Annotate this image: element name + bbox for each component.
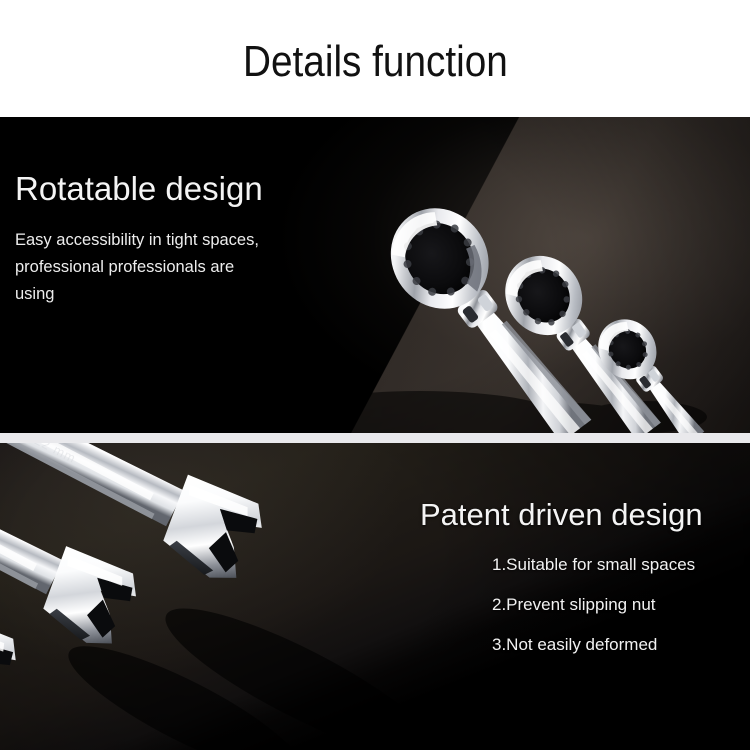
panel-body-rotatable: Easy accessibility in tight spaces, prof… xyxy=(15,227,315,308)
feature-list-item: 2.Prevent slipping nut xyxy=(492,596,740,613)
header-banner: Details function xyxy=(0,0,750,117)
feature-panel-rotatable-design: Rotatable design Easy accessibility in t… xyxy=(0,117,750,433)
feature-list-item: 3.Not easily deformed xyxy=(492,636,740,653)
panel-heading-rotatable: Rotatable design xyxy=(15,172,315,207)
panel-text-block-rotatable: Rotatable design Easy accessibility in t… xyxy=(15,172,315,308)
panel-body-line: professional professionals are xyxy=(15,254,315,281)
panel-divider xyxy=(0,433,750,443)
panel-text-block-patent: Patent driven design 1.Suitable for smal… xyxy=(420,499,740,676)
page-title: Details function xyxy=(243,34,508,84)
panel-heading-patent: Patent driven design xyxy=(420,499,740,532)
feature-list: 1.Suitable for small spaces 2.Prevent sl… xyxy=(420,556,740,653)
feature-panel-patent-driven-design: 22 mm CHROME 17 mm CHROME xyxy=(0,443,750,750)
panel-body-line: using xyxy=(15,281,315,308)
feature-list-item: 1.Suitable for small spaces xyxy=(492,556,740,573)
product-detail-image: Details function xyxy=(0,0,750,750)
panel-body-line: Easy accessibility in tight spaces, xyxy=(15,227,315,254)
